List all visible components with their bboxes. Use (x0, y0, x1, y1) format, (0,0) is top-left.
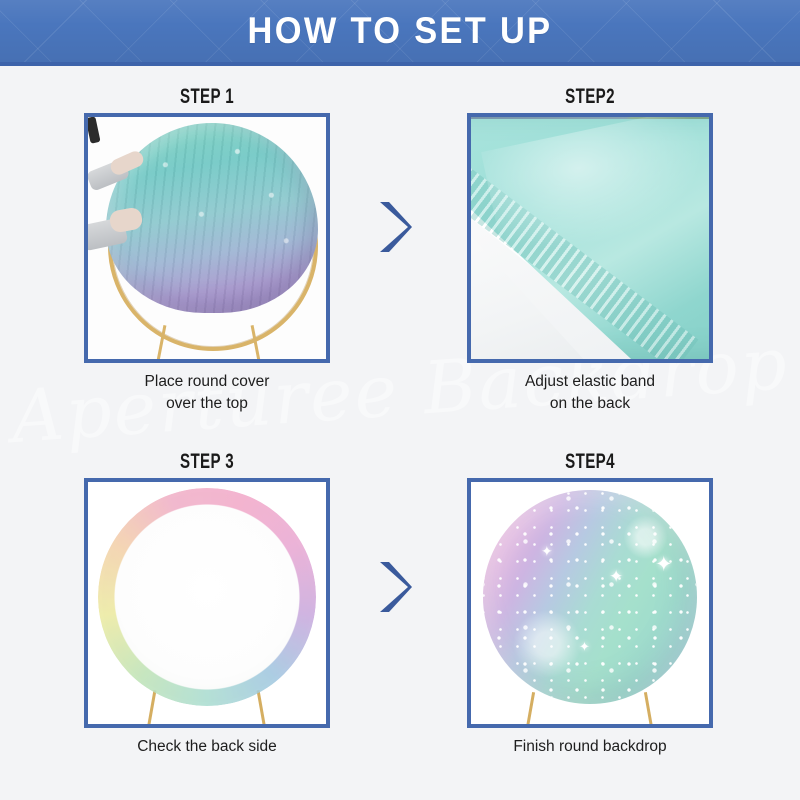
step-4-label: STEP4 (501, 450, 678, 476)
page-title: HOW TO SET UP (28, 0, 772, 62)
step-1-caption-line2: over the top (64, 393, 350, 415)
arrow-step3-to-step4 (372, 558, 416, 616)
step-3-caption-line1: Check the back side (137, 738, 277, 755)
step-1-label: STEP 1 (118, 85, 295, 111)
chevron-right-icon (372, 198, 416, 256)
step-1-caption-line1: Place round cover (145, 373, 270, 390)
sparkle-icon: ✦ (579, 640, 590, 653)
illustration-finished-backdrop: ✦ ✦ ✦ ✦ (471, 482, 709, 724)
step-3-photo (84, 478, 330, 728)
step-1: STEP 1 Place round cover over the top (84, 85, 330, 425)
illustration-back-side (88, 482, 326, 724)
stand-leg-left (526, 692, 535, 728)
step-2-photo (467, 113, 713, 363)
step-2-caption-line2: on the back (447, 393, 733, 415)
stand-leg-left (147, 690, 157, 728)
step-2-label: STEP2 (501, 85, 678, 111)
step-4-caption: Finish round backdrop (447, 736, 733, 758)
chevron-right-icon (372, 558, 416, 616)
step-3-label: STEP 3 (118, 450, 295, 476)
step-4: STEP4 ✦ ✦ ✦ ✦ Finish round backdrop (467, 450, 713, 790)
step-2: STEP2 Adjust elastic band on the back (467, 85, 713, 425)
step-1-photo (84, 113, 330, 363)
wrist-cuff (85, 116, 100, 144)
sparkle-icon: ✦ (541, 544, 553, 558)
step-3-caption: Check the back side (64, 736, 350, 758)
illustration-elastic-band (471, 117, 709, 359)
star-field (483, 490, 697, 704)
stand-leg-right (257, 690, 267, 728)
step-2-caption-line1: Adjust elastic band (525, 373, 655, 390)
step-2-caption: Adjust elastic band on the back (447, 371, 733, 416)
stand-leg-right (644, 692, 653, 728)
sparkle-icon: ✦ (655, 554, 673, 575)
banner-underline (0, 62, 800, 66)
step-4-photo: ✦ ✦ ✦ ✦ (467, 478, 713, 728)
illustration-cover-on-frame (88, 117, 326, 359)
step-4-caption-line1: Finish round backdrop (513, 738, 666, 755)
step-3: STEP 3 Check the back side (84, 450, 330, 790)
arrow-step1-to-step2 (372, 198, 416, 256)
backdrop-front-disc: ✦ ✦ ✦ ✦ (483, 490, 697, 704)
sparkle-icon: ✦ (609, 568, 623, 585)
pastel-rainbow-rim (98, 488, 316, 706)
step-1-caption: Place round cover over the top (64, 371, 350, 416)
